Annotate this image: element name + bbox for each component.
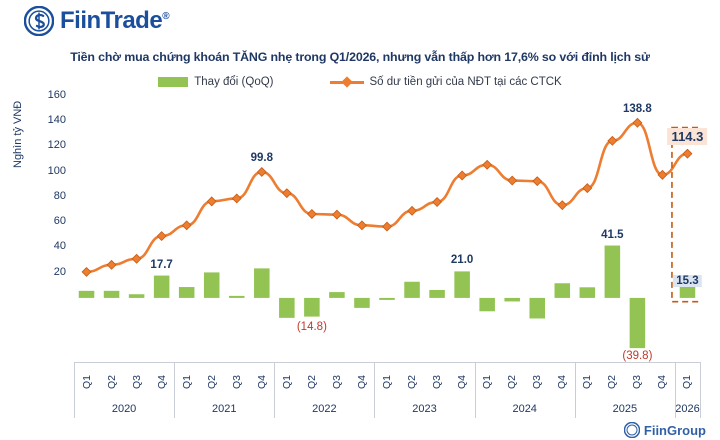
- line-marker-10[interactable]: [333, 210, 342, 219]
- x-tick-quarter: Q1: [581, 375, 593, 389]
- bar-Q4-11[interactable]: [354, 298, 370, 308]
- x-axis-quarter-cell: Q1: [374, 364, 399, 398]
- x-tick-quarter: Q1: [381, 375, 393, 389]
- fiin-circle-logo-icon: [624, 422, 640, 438]
- legend-item-line[interactable]: Số dư tiền gửi của NĐT tại các CTCK: [330, 76, 562, 88]
- y-tick-label: 100: [30, 165, 66, 177]
- registered-mark: ®: [162, 11, 169, 22]
- data-label-bar-22: (39.8): [622, 350, 652, 362]
- x-axis-quarter-cell: Q1: [74, 364, 99, 398]
- line-marker-3[interactable]: [157, 232, 166, 241]
- legend-label-bar: Thay đổi (QoQ): [194, 76, 273, 88]
- x-axis-quarter-cell: Q4: [450, 364, 475, 398]
- x-tick-quarter: Q3: [531, 375, 543, 389]
- line-marker-0[interactable]: [82, 268, 91, 277]
- chart-legend: Thay đổi (QoQ) Số dư tiền gửi của NĐT tạ…: [0, 76, 720, 88]
- brand-header: FiinTrade®: [24, 6, 169, 36]
- line-marker-16[interactable]: [483, 160, 492, 169]
- x-axis-quarter-cell: Q2: [400, 364, 425, 398]
- x-axis-group-separator: [374, 362, 375, 418]
- x-axis-quarter-cell: Q2: [199, 364, 224, 398]
- watermark-text: FiinGroup: [644, 424, 706, 437]
- bar-Q2-21[interactable]: [605, 246, 621, 298]
- data-label-bar-24: 15.3: [673, 275, 701, 287]
- brand-wordmark: FiinTrade®: [60, 9, 169, 33]
- bar-Q1-4[interactable]: [179, 287, 195, 298]
- x-axis-group-separator: [174, 362, 175, 418]
- bar-Q1-12[interactable]: [379, 298, 395, 300]
- x-axis-quarter-cell: Q4: [149, 364, 174, 398]
- bar-Q2-17[interactable]: [504, 298, 520, 302]
- x-axis-year-label: 2025: [575, 400, 675, 418]
- x-tick-quarter: Q2: [406, 375, 418, 389]
- x-axis: Q1Q2Q3Q42020Q1Q2Q3Q42021Q1Q2Q3Q42022Q1Q2…: [74, 362, 700, 418]
- x-axis-year-label: 2021: [174, 400, 274, 418]
- x-axis-quarter-cell: Q4: [249, 364, 274, 398]
- line-marker-15[interactable]: [458, 171, 467, 180]
- x-axis-year-label: 2023: [374, 400, 474, 418]
- bar-Q1-16[interactable]: [479, 298, 495, 311]
- line-marker-1[interactable]: [107, 260, 116, 269]
- x-axis-group-separator: [274, 362, 275, 418]
- line-marker-4[interactable]: [182, 221, 191, 230]
- line-marker-14[interactable]: [433, 198, 442, 207]
- bar-Q3-22[interactable]: [630, 298, 646, 348]
- x-tick-quarter: Q2: [306, 375, 318, 389]
- line-marker-19[interactable]: [558, 201, 567, 210]
- x-axis-quarter-cell: Q1: [675, 364, 700, 398]
- x-tick-quarter: Q2: [606, 375, 618, 389]
- bar-Q1-20[interactable]: [580, 287, 596, 298]
- x-tick-quarter: Q4: [356, 375, 368, 389]
- bar-Q2-5[interactable]: [204, 272, 220, 297]
- x-tick-quarter: Q1: [681, 375, 693, 389]
- line-marker-20[interactable]: [583, 184, 592, 193]
- line-marker-9[interactable]: [307, 210, 316, 219]
- x-axis-quarter-cell: Q4: [349, 364, 374, 398]
- x-axis-quarter-cell: Q1: [174, 364, 199, 398]
- data-label-bar-15: 21.0: [451, 254, 473, 266]
- x-axis-year-label: 2024: [475, 400, 575, 418]
- x-axis-group-separator: [74, 362, 75, 418]
- line-marker-21[interactable]: [608, 136, 617, 145]
- x-axis-quarter-cell: Q3: [224, 364, 249, 398]
- line-marker-17[interactable]: [508, 176, 517, 185]
- x-tick-quarter: Q1: [81, 375, 93, 389]
- bar-Q4-3[interactable]: [154, 276, 170, 298]
- x-axis-quarter-cell: Q2: [299, 364, 324, 398]
- x-axis-quarter-cell: Q4: [650, 364, 675, 398]
- x-tick-quarter: Q4: [156, 375, 168, 389]
- x-axis-group-separator: [675, 362, 676, 418]
- data-label-bar-21: 41.5: [601, 229, 623, 241]
- line-marker-18[interactable]: [533, 177, 542, 186]
- x-axis-year-label: 2026: [675, 400, 700, 418]
- y-tick-label: 40: [30, 240, 66, 252]
- bar-Q4-19[interactable]: [555, 283, 571, 298]
- x-axis-quarter-cell: Q3: [324, 364, 349, 398]
- line-marker-23[interactable]: [658, 170, 667, 179]
- line-marker-12[interactable]: [383, 222, 392, 231]
- line-series-path[interactable]: [87, 123, 688, 272]
- bar-Q2-13[interactable]: [404, 282, 420, 298]
- bar-Q3-14[interactable]: [429, 290, 445, 298]
- x-tick-quarter: Q3: [131, 375, 143, 389]
- x-tick-quarter: Q3: [231, 375, 243, 389]
- y-tick-label: 140: [30, 114, 66, 126]
- x-axis-year-label: 2022: [274, 400, 374, 418]
- line-marker-11[interactable]: [358, 221, 367, 230]
- brand-name: FiinTrade: [60, 7, 162, 34]
- y-tick-label: 80: [30, 190, 66, 202]
- x-tick-quarter: Q2: [106, 375, 118, 389]
- x-tick-quarter: Q2: [506, 375, 518, 389]
- chart-title: Tiền chờ mua chứng khoán TĂNG nhẹ trong …: [0, 50, 720, 64]
- y-tick-label: 160: [30, 89, 66, 101]
- x-tick-quarter: Q3: [631, 375, 643, 389]
- line-marker-13[interactable]: [408, 206, 417, 215]
- line-marker-5[interactable]: [207, 197, 216, 206]
- legend-bar-swatch-icon: [158, 77, 188, 87]
- legend-label-line: Số dư tiền gửi của NĐT tại các CTCK: [370, 76, 562, 88]
- x-axis-quarter-cell: Q2: [99, 364, 124, 398]
- legend-line-swatch-icon: [330, 76, 364, 88]
- x-axis-quarter-cell: Q4: [550, 364, 575, 398]
- bar-Q4-15[interactable]: [454, 271, 470, 298]
- x-axis-group-separator: [475, 362, 476, 418]
- x-axis-year-label: 2020: [74, 400, 174, 418]
- x-axis-group-separator: [575, 362, 576, 418]
- x-tick-quarter: Q1: [281, 375, 293, 389]
- x-axis-quarter-cell: Q3: [425, 364, 450, 398]
- x-tick-quarter: Q3: [331, 375, 343, 389]
- line-marker-6[interactable]: [232, 194, 241, 203]
- line-marker-2[interactable]: [132, 254, 141, 263]
- plot-area: 17.799.8(14.8)21.041.5138.8(39.8)114.315…: [74, 96, 700, 361]
- x-tick-quarter: Q4: [456, 375, 468, 389]
- data-label-bar-3: 17.7: [150, 259, 172, 271]
- footer-watermark: FiinGroup: [624, 422, 706, 438]
- bar-Q3-18[interactable]: [529, 298, 545, 319]
- y-tick-label: 60: [30, 215, 66, 227]
- fiin-circle-logo-icon: [24, 6, 54, 36]
- line-marker-8[interactable]: [282, 189, 291, 198]
- x-axis-quarter-cell: Q3: [124, 364, 149, 398]
- bar-Q1-0[interactable]: [79, 291, 95, 298]
- bar-Q1-8[interactable]: [279, 298, 295, 318]
- data-label-line-7: 99.8: [251, 152, 273, 164]
- y-tick-label: 120: [30, 139, 66, 151]
- bar-Q2-1[interactable]: [104, 291, 120, 298]
- bar-Q2-9[interactable]: [304, 298, 320, 317]
- x-axis-quarter-cell: Q1: [475, 364, 500, 398]
- x-tick-quarter: Q1: [181, 375, 193, 389]
- line-marker-24[interactable]: [683, 149, 692, 158]
- data-label-line-22: 138.8: [623, 103, 652, 115]
- y-tick-label: 20: [30, 266, 66, 278]
- bar-Q3-2[interactable]: [129, 294, 145, 298]
- x-axis-quarter-cell: Q3: [625, 364, 650, 398]
- x-tick-quarter: Q2: [206, 375, 218, 389]
- bar-Q3-10[interactable]: [329, 292, 345, 298]
- legend-item-bar[interactable]: Thay đổi (QoQ): [158, 76, 273, 88]
- x-axis-quarter-cell: Q1: [575, 364, 600, 398]
- bar-Q3-6[interactable]: [229, 296, 245, 298]
- x-axis-quarter-cell: Q1: [274, 364, 299, 398]
- line-marker-22[interactable]: [633, 118, 642, 127]
- data-label-bar-9: (14.8): [297, 321, 327, 333]
- data-label-line-24: 114.3: [668, 128, 708, 145]
- line-marker-7[interactable]: [257, 168, 266, 177]
- bar-Q4-7[interactable]: [254, 268, 270, 298]
- x-tick-quarter: Q4: [256, 375, 268, 389]
- x-tick-quarter: Q3: [431, 375, 443, 389]
- x-axis-quarter-cell: Q2: [600, 364, 625, 398]
- x-axis-group-separator: [700, 362, 701, 418]
- x-tick-quarter: Q4: [656, 375, 668, 389]
- x-tick-quarter: Q4: [556, 375, 568, 389]
- x-tick-quarter: Q1: [481, 375, 493, 389]
- x-axis-quarter-cell: Q3: [525, 364, 550, 398]
- x-axis-quarter-cell: Q2: [500, 364, 525, 398]
- x-axis-line: [74, 362, 700, 363]
